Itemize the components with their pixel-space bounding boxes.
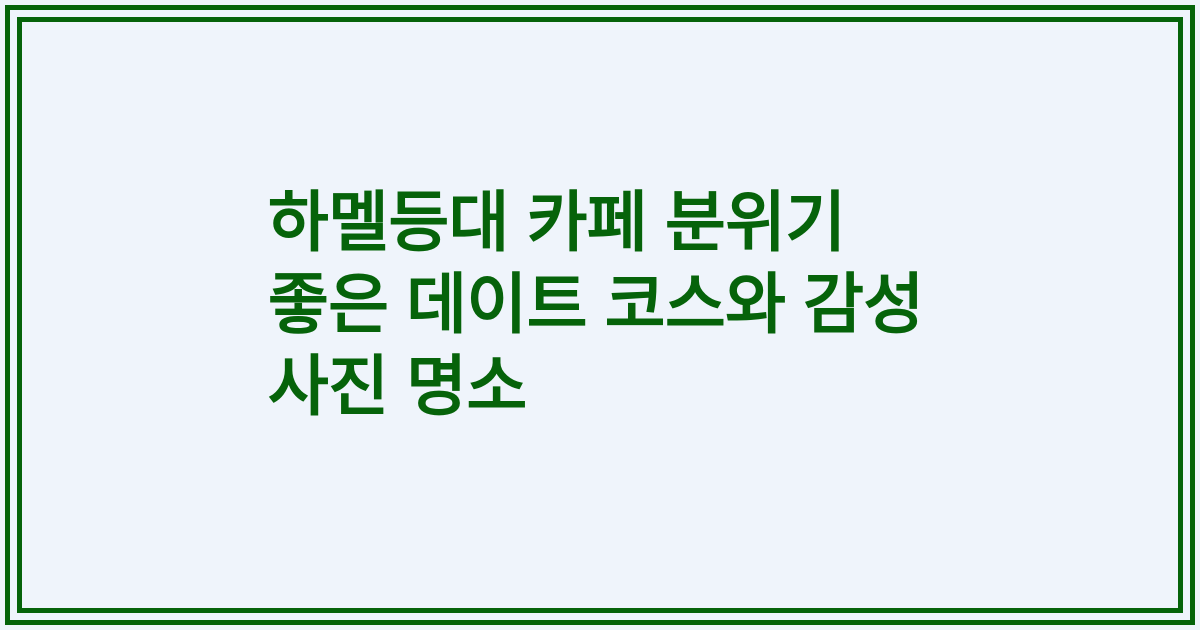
card-content: 하멜등대 카페 분위기 좋은 데이트 코스와 감성 사진 명소 [0, 0, 1200, 630]
title-card: 하멜등대 카페 분위기 좋은 데이트 코스와 감성 사진 명소 [0, 0, 1200, 630]
page-title: 하멜등대 카페 분위기 좋은 데이트 코스와 감성 사진 명소 [268, 181, 940, 427]
